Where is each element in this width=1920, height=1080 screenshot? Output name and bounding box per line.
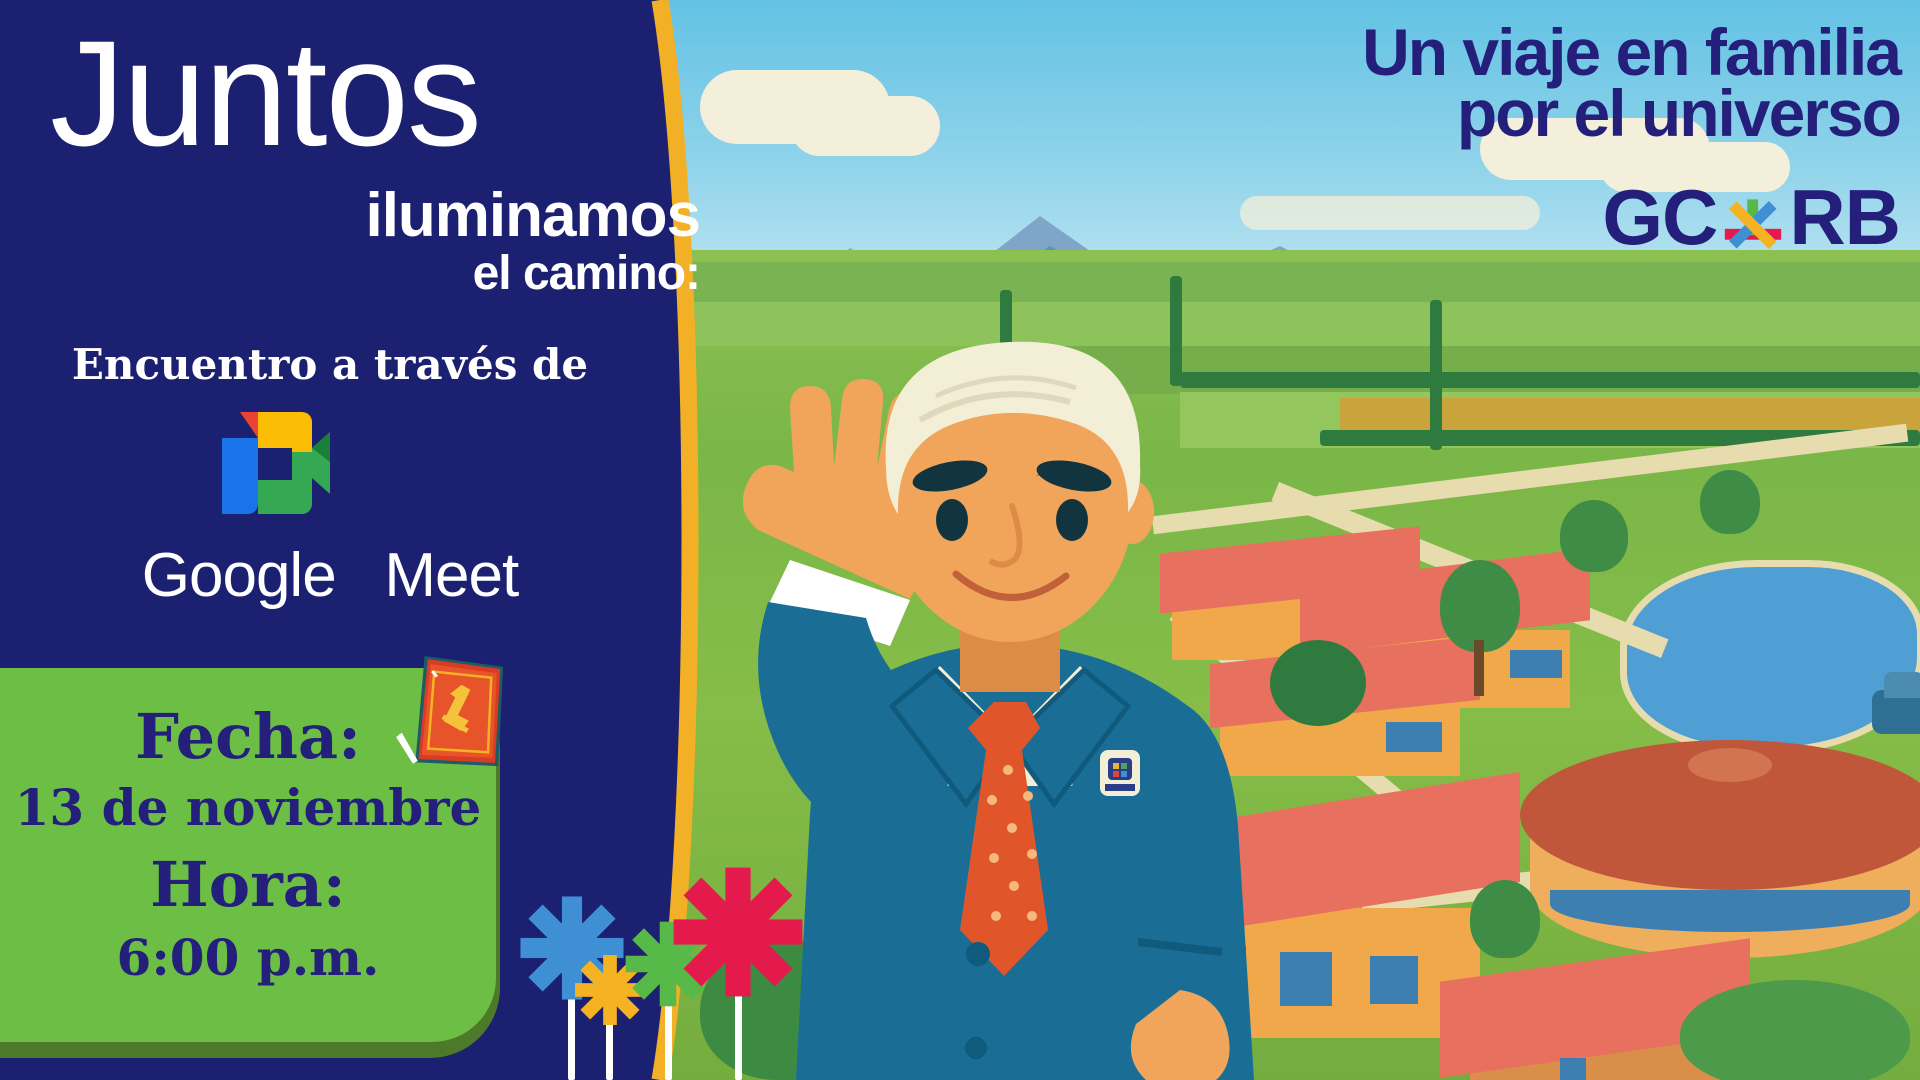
right-heading-line-2: por el universo xyxy=(1080,83,1900,144)
left-content-column: Juntos iluminamos el camino: Encuentro a… xyxy=(0,0,760,1080)
tree-trunk xyxy=(1474,640,1484,696)
tree xyxy=(1700,470,1760,534)
headline-line-1: Juntos xyxy=(50,22,700,165)
hedge xyxy=(1430,300,1442,450)
parked-car xyxy=(1884,672,1920,698)
headline-line-2: iluminamos xyxy=(50,185,700,247)
logo-text-left: GC xyxy=(1602,178,1717,256)
hedge xyxy=(1180,372,1920,388)
multicolor-asterisk-icon xyxy=(1721,191,1785,255)
logo-text-right: RB xyxy=(1789,178,1900,256)
platform-name: Google Meet xyxy=(20,540,640,611)
google-meet-icon xyxy=(210,412,330,514)
field-strip xyxy=(1340,398,1920,432)
platform-intro-text: Encuentro a través de xyxy=(20,340,640,389)
gcrb-lapel-pin xyxy=(1100,750,1140,796)
tree xyxy=(1560,500,1628,572)
tree xyxy=(1440,560,1520,652)
right-heading: Un viaje en familia por el universo xyxy=(1080,22,1900,143)
platform-name-meet: Meet xyxy=(384,541,518,610)
tree xyxy=(1470,880,1540,958)
tree xyxy=(1680,980,1910,1080)
palm-tree xyxy=(1270,640,1366,726)
headline-line-3: el camino: xyxy=(50,250,700,298)
gcrb-logo: GC RB xyxy=(1080,178,1900,256)
platform-name-google: Google xyxy=(142,541,336,610)
right-heading-line-1: Un viaje en familia xyxy=(1080,22,1900,83)
poster-canvas: Juntos iluminamos el camino: Encuentro a… xyxy=(0,0,1920,1080)
